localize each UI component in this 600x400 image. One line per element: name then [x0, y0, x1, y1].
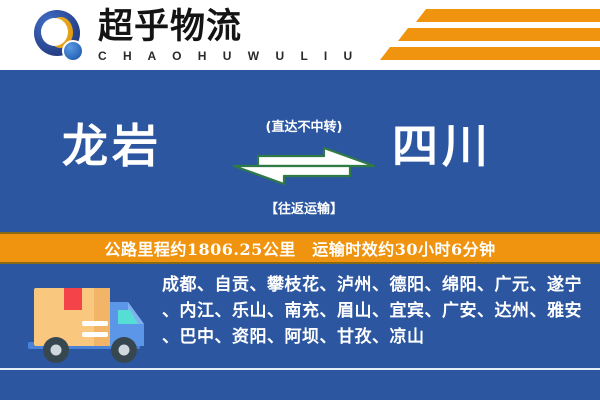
stripe-top [416, 9, 600, 22]
direct-shipping-caption: (直达不中转) [228, 116, 380, 135]
covered-cities-line-2: 、内江、乐山、南充、眉山、宜宾、广安、达州、雅安 [162, 298, 586, 324]
coverage-section: 成都、自贡、攀枝花、泸州、德阳、绵阳、广元、遂宁 、内江、乐山、南充、眉山、宜宾… [0, 264, 600, 400]
covered-cities-line-3: 、巴中、资阳、阿坝、甘孜、凉山 [162, 324, 586, 350]
destination-city-name: 四川 [392, 120, 492, 172]
header-stripe-decoration [380, 8, 600, 66]
delivery-truck-icon [24, 280, 152, 368]
brand-block: 超乎物流 C H A O H U W U L I U [98, 8, 359, 64]
brand-name-pinyin: C H A O H U W U L I U [98, 48, 359, 64]
brand-name-chinese: 超乎物流 [98, 8, 359, 46]
route-section: 龙岩 (直达不中转) 【往返运输】 四川 [0, 70, 600, 232]
bottom-divider [0, 368, 600, 370]
round-trip-caption: 【往返运输】 [228, 198, 380, 217]
route-info-bar: 公路里程约1806.25公里 运输时效约30小时6分钟 [0, 232, 600, 264]
distance-and-duration-text: 公路里程约1806.25公里 运输时效约30小时6分钟 [104, 236, 495, 260]
origin-city-name: 龙岩 [62, 120, 162, 172]
stripe-bottom [380, 47, 600, 60]
logo-dot-shape [62, 40, 84, 62]
bidirectional-arrow-icon [228, 142, 380, 190]
route-arrow-group: (直达不中转) 【往返运输】 [228, 116, 380, 224]
stripe-middle [398, 28, 600, 41]
banner-header: 超乎物流 C H A O H U W U L I U [0, 0, 600, 70]
chaohu-logistics-circle-logo-icon [32, 10, 92, 62]
covered-cities-line-1: 成都、自贡、攀枝花、泸州、德阳、绵阳、广元、遂宁 [162, 272, 586, 298]
logo-crescent-cutout-shape [41, 18, 68, 46]
logistics-route-banner: 超乎物流 C H A O H U W U L I U 龙岩 (直达不中转) 【往… [0, 0, 600, 400]
covered-cities-list: 成都、自贡、攀枝花、泸州、德阳、绵阳、广元、遂宁 、内江、乐山、南充、眉山、宜宾… [162, 272, 586, 350]
